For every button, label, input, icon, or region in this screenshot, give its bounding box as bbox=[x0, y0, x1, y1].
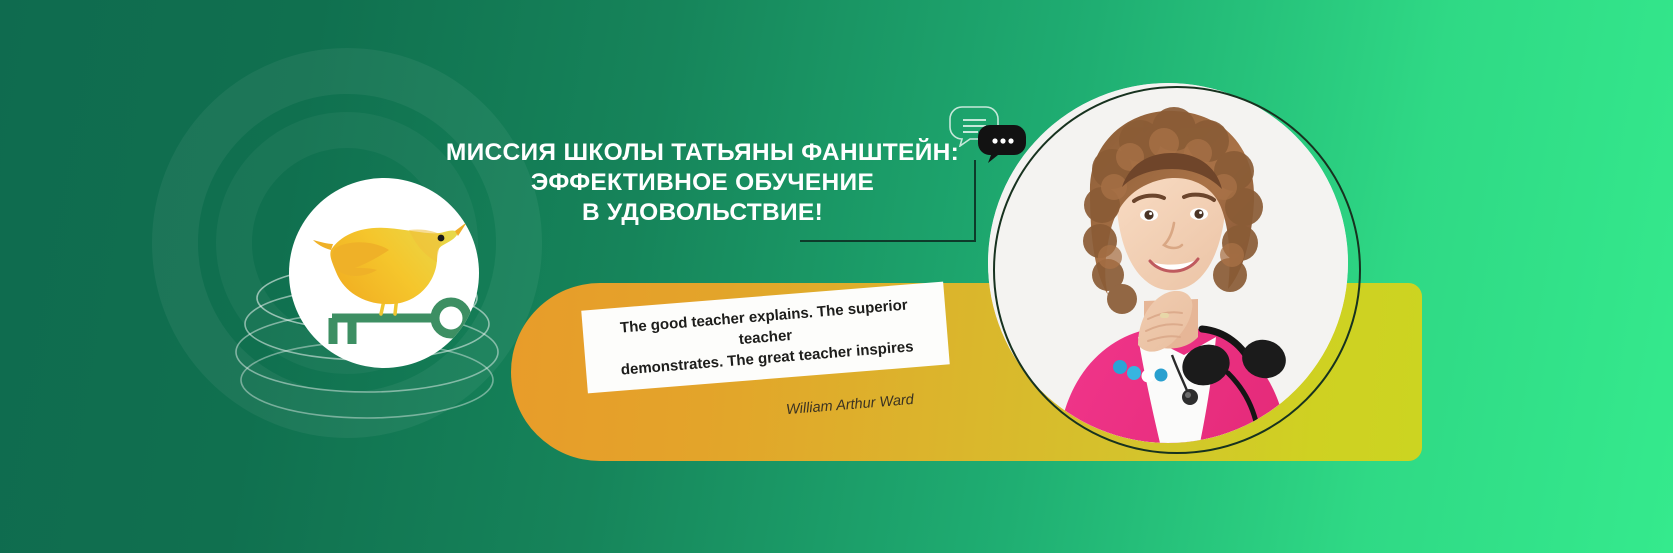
portrait-ring-outline bbox=[993, 86, 1361, 454]
quote-text: The good teacher explains. The superior … bbox=[598, 293, 933, 382]
chat-bubble-dots-icon bbox=[978, 125, 1026, 164]
promo-banner: МИССИЯ ШКОЛЫ ТАТЬЯНЫ ФАНШТЕЙН: ЭФФЕКТИВН… bbox=[0, 0, 1673, 553]
decorative-bracket-line bbox=[800, 160, 976, 242]
